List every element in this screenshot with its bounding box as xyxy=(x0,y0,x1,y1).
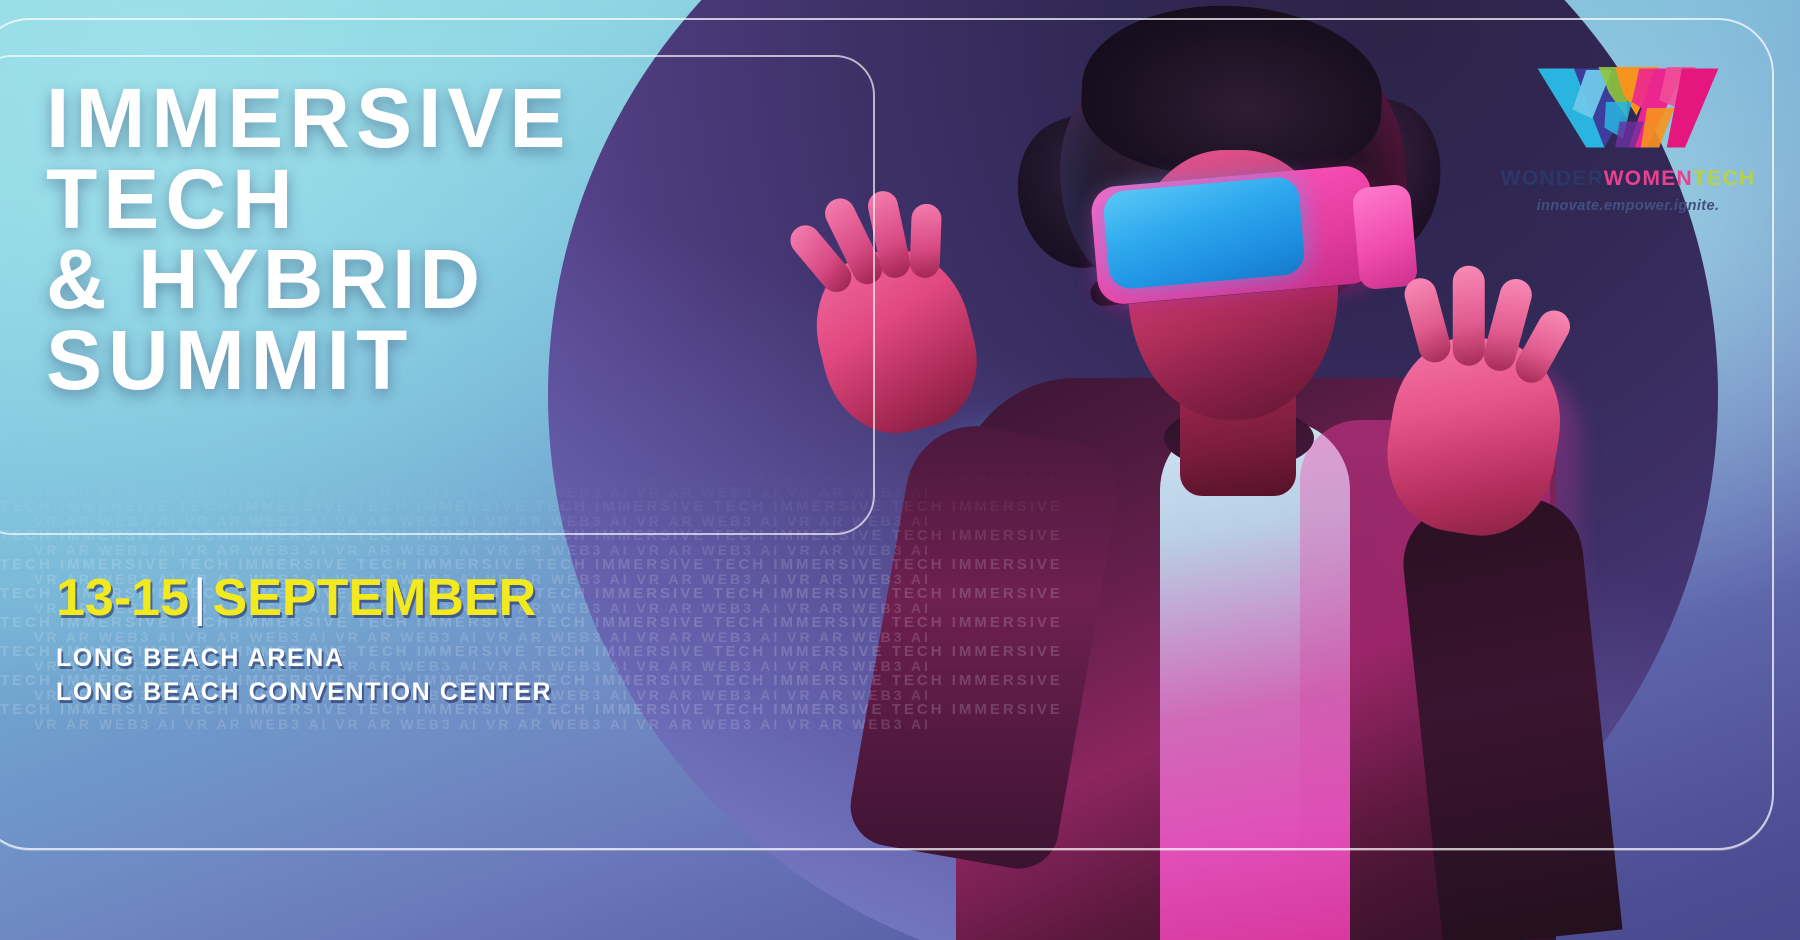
event-date-month: SEPTEMBER xyxy=(213,569,537,627)
logo-word-tech: TECH xyxy=(1693,167,1755,190)
logo-word-wonder: WONDER xyxy=(1501,167,1604,190)
page-title: IMMERSIVE TECH & HYBRID SUMMIT xyxy=(46,78,836,401)
logo-wordmark: WONDERWOMENTECH xyxy=(1478,168,1778,189)
vr-headset-strap xyxy=(1352,184,1419,291)
headline-line-1: IMMERSIVE xyxy=(46,78,836,159)
brand-logo: WONDERWOMENTECH innovate.empower.ignite. xyxy=(1478,62,1778,214)
event-promo-banner: TECH IMMERSIVE TECH IMMERSIVE TECH IMMER… xyxy=(0,0,1800,940)
venue-line-2: LONG BEACH CONVENTION CENTER xyxy=(56,676,552,710)
logo-tagline: innovate.empower.ignite. xyxy=(1478,198,1778,214)
venue-line-1: LONG BEACH ARENA xyxy=(56,642,552,676)
event-details: 13-15|SEPTEMBER LONG BEACH ARENA LONG BE… xyxy=(56,572,552,709)
wonder-women-w-icon xyxy=(1533,62,1723,154)
event-date: 13-15|SEPTEMBER xyxy=(56,572,552,624)
headline-line-4: SUMMIT xyxy=(46,320,836,401)
vr-headset-lens xyxy=(1102,176,1306,291)
headline-line-2: TECH xyxy=(46,159,836,240)
logo-word-women: WOMEN xyxy=(1604,167,1693,190)
event-date-separator: | xyxy=(193,569,207,627)
headline-line-3: & HYBRID xyxy=(46,239,836,320)
event-venue: LONG BEACH ARENA LONG BEACH CONVENTION C… xyxy=(56,642,552,709)
event-date-days: 13-15 xyxy=(56,569,189,627)
